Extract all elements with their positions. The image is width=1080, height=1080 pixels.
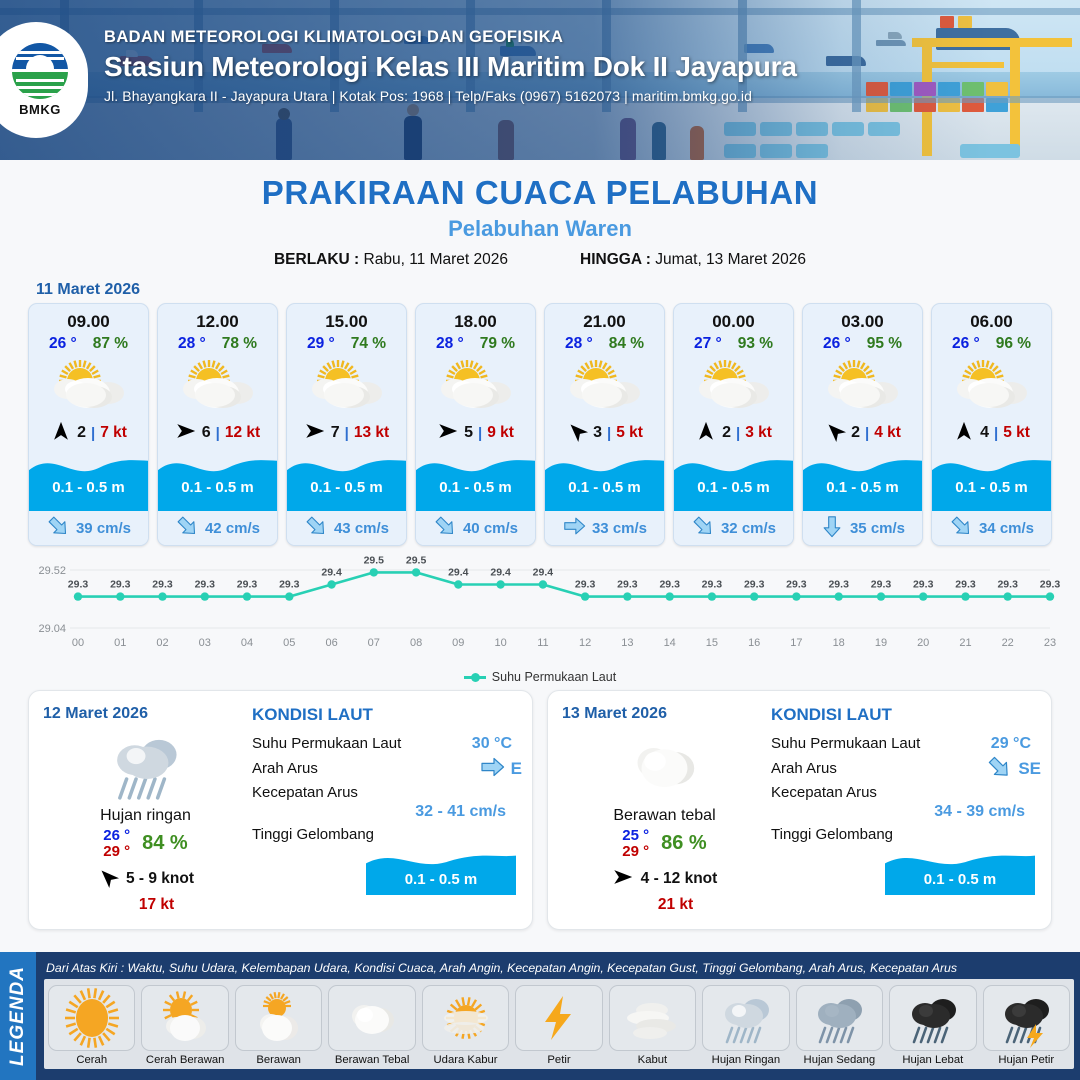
sst-label: Suhu Permukaan Laut: [252, 735, 472, 752]
svg-text:20: 20: [917, 637, 929, 649]
svg-text:29.3: 29.3: [913, 579, 934, 591]
hourly-forecast-cards: 09.00 26 ° 87 % 2 | 7 kt 0.1 - 0.5 m 39: [0, 303, 1080, 546]
current-speed: 35 cm/s: [850, 520, 905, 537]
wind-gust: 4 kt: [874, 424, 901, 442]
wave-badge: 0.1 - 0.5 m: [885, 847, 1035, 895]
card-time: 06.00: [932, 304, 1051, 334]
card-wind: 5 | 9 kt: [416, 417, 535, 449]
current-direction-arrow-icon: [175, 514, 199, 543]
wind-gust: 5 kt: [1003, 424, 1030, 442]
legend-icon-cerah-berawan: [141, 985, 228, 1051]
svg-text:29.3: 29.3: [110, 579, 131, 591]
current-direction-arrow-icon: [691, 514, 715, 543]
legend-item-label: Cerah Berawan: [146, 1054, 225, 1066]
svg-text:29.3: 29.3: [1040, 579, 1061, 591]
legend-item-label: Berawan Tebal: [335, 1054, 410, 1066]
legend-item: Hujan Ringan: [702, 985, 789, 1066]
svg-text:29.3: 29.3: [828, 579, 849, 591]
svg-text:16: 16: [748, 637, 760, 649]
panel-temps: 25 ° 29 °: [622, 828, 649, 860]
separator: |: [345, 425, 349, 442]
card-current: 40 cm/s: [416, 511, 535, 545]
weather-icon-partly-cloudy: [158, 355, 277, 417]
legend-bar: LEGENDA Dari Atas Kiri : Waktu, Suhu Uda…: [0, 952, 1080, 1080]
svg-text:29.52: 29.52: [38, 565, 66, 577]
sea-condition-title: KONDISI LAUT: [252, 705, 522, 725]
card-temp-humidity: 26 ° 96 %: [932, 334, 1051, 355]
wind-speed: 3: [593, 424, 602, 442]
legend-item-label: Petir: [547, 1054, 570, 1066]
svg-text:29.3: 29.3: [871, 579, 892, 591]
separator: |: [216, 425, 220, 442]
panel-date: 13 Maret 2026: [562, 705, 767, 723]
panel-temp-max: 29 °: [622, 844, 649, 860]
separator: |: [865, 425, 869, 442]
card-current: 33 cm/s: [545, 511, 664, 545]
wind-direction-arrow-icon: [695, 420, 717, 447]
svg-text:10: 10: [494, 637, 506, 649]
card-time: 00.00: [674, 304, 793, 334]
current-direction-value-cell: E: [479, 754, 522, 784]
svg-text:08: 08: [410, 637, 422, 649]
svg-text:21: 21: [959, 637, 971, 649]
card-temperature: 29 °: [307, 335, 335, 353]
header-titles: BADAN METEOROLOGI KLIMATOLOGI DAN GEOFIS…: [104, 28, 797, 104]
card-temp-humidity: 28 ° 78 %: [158, 334, 277, 355]
wind-gust: 7 kt: [100, 424, 127, 442]
svg-text:06: 06: [325, 637, 337, 649]
wind-direction-arrow-icon: [175, 420, 197, 447]
chart-legend: Suhu Permukaan Laut: [0, 670, 1080, 684]
forecast-card: 06.00 26 ° 96 % 4 | 5 kt 0.1 - 0.5 m 34: [931, 303, 1052, 546]
legend-item: Berawan Tebal: [328, 985, 415, 1066]
svg-text:29.3: 29.3: [786, 579, 807, 591]
panel-wind: 5 - 9 knot: [43, 866, 248, 893]
card-current: 34 cm/s: [932, 511, 1051, 545]
card-current: 35 cm/s: [803, 511, 922, 545]
svg-text:29.3: 29.3: [659, 579, 680, 591]
wind-speed: 2: [851, 424, 860, 442]
daily-forecast-panel: 12 Maret 2026 Hujan ringan 26 ° 29 ° 84 …: [28, 690, 533, 930]
svg-text:29.4: 29.4: [448, 567, 469, 579]
legend-items: Cerah Cerah Berawan Berawan Berawan Teba…: [44, 979, 1074, 1069]
panel-temp-max: 29 °: [103, 844, 130, 860]
bmkg-logo-mark: [12, 43, 68, 99]
card-current: 39 cm/s: [29, 511, 148, 545]
svg-text:29.3: 29.3: [575, 579, 596, 591]
panel-temps: 26 ° 29 °: [103, 828, 130, 860]
legend-icon-hujan-ringan: [702, 985, 789, 1051]
card-time: 18.00: [416, 304, 535, 334]
forecast-date-label: 11 Maret 2026: [36, 281, 1080, 299]
card-time: 03.00: [803, 304, 922, 334]
svg-text:29.3: 29.3: [68, 579, 89, 591]
card-wind: 2 | 3 kt: [674, 417, 793, 449]
svg-text:29.3: 29.3: [955, 579, 976, 591]
separator: |: [736, 425, 740, 442]
wind-speed: 5: [464, 424, 473, 442]
legend-item: Hujan Petir: [983, 985, 1070, 1066]
daily-forecast-panel: 13 Maret 2026 Berawan tebal 25 ° 29 ° 86…: [547, 690, 1052, 930]
daily-forecast-panels: 12 Maret 2026 Hujan ringan 26 ° 29 ° 84 …: [0, 684, 1080, 930]
svg-text:07: 07: [368, 637, 380, 649]
card-wave: 0.1 - 0.5 m: [674, 449, 793, 511]
forecast-card: 03.00 26 ° 95 % 2 | 4 kt 0.1 - 0.5 m 35: [802, 303, 923, 546]
svg-text:15: 15: [706, 637, 718, 649]
panel-gust: 21 kt: [562, 896, 767, 914]
panel-humidity: 86 %: [661, 832, 707, 855]
card-wind: 2 | 4 kt: [803, 417, 922, 449]
legend-item: Berawan: [235, 985, 322, 1066]
legend-icon-hujan-lebat: [889, 985, 976, 1051]
current-speed: 34 cm/s: [979, 520, 1034, 537]
current-direction-value-cell: SE: [986, 754, 1041, 784]
sea-condition-title: KONDISI LAUT: [771, 705, 1041, 725]
card-wave: 0.1 - 0.5 m: [287, 449, 406, 511]
wave-row: Tinggi Gelombang: [771, 821, 1041, 847]
wind-gust: 5 kt: [616, 424, 643, 442]
current-direction-arrow-icon: [949, 514, 973, 543]
card-wind: 2 | 7 kt: [29, 417, 148, 449]
current-speed-value: 34 - 39 cm/s: [771, 803, 1041, 821]
svg-text:29.04: 29.04: [38, 623, 66, 635]
current-direction-arrow-icon: [433, 514, 457, 543]
current-direction-label: Arah Arus: [252, 760, 479, 777]
panel-humidity: 84 %: [142, 832, 188, 855]
card-wind: 4 | 5 kt: [932, 417, 1051, 449]
wave-label: Tinggi Gelombang: [252, 826, 522, 843]
weather-icon-partly-cloudy: [287, 355, 406, 417]
current-direction-arrow-icon: [304, 514, 328, 543]
wave-badge: 0.1 - 0.5 m: [366, 847, 516, 895]
svg-text:29.5: 29.5: [406, 556, 427, 566]
card-temperature: 27 °: [694, 335, 722, 353]
svg-text:14: 14: [664, 637, 676, 649]
svg-text:29.4: 29.4: [533, 567, 554, 579]
valid-from-value: Rabu, 11 Maret 2026: [364, 251, 508, 268]
weather-icon-partly-cloudy: [545, 355, 664, 417]
current-direction-row: Arah Arus E: [252, 756, 522, 781]
card-time: 15.00: [287, 304, 406, 334]
panel-condition: Berawan tebal: [562, 807, 767, 825]
legend-item-label: Kabut: [638, 1054, 668, 1066]
weather-icon-partly-cloudy: [674, 355, 793, 417]
page-header: BMKG BADAN METEOROLOGI KLIMATOLOGI DAN G…: [0, 0, 1080, 160]
current-speed-label: Kecepatan Arus: [252, 784, 522, 801]
svg-text:13: 13: [621, 637, 633, 649]
card-time: 09.00: [29, 304, 148, 334]
current-speed: 43 cm/s: [334, 520, 389, 537]
current-direction-arrow-icon: [986, 754, 1012, 784]
wind-speed: 2: [722, 424, 731, 442]
svg-text:29.4: 29.4: [321, 567, 342, 579]
svg-text:29.3: 29.3: [237, 579, 258, 591]
svg-text:11: 11: [537, 637, 548, 649]
card-current: 32 cm/s: [674, 511, 793, 545]
wind-direction-arrow-icon: [97, 866, 119, 893]
card-humidity: 74 %: [351, 335, 386, 353]
valid-to: HINGGA : Jumat, 13 Maret 2026: [580, 251, 806, 269]
page-title: PRAKIRAAN CUACA PELABUHAN: [0, 174, 1080, 212]
card-temperature: 26 °: [49, 335, 77, 353]
sst-chart: 29.5229.0429.30029.30129.30229.30329.304…: [18, 556, 1062, 668]
forecast-card: 00.00 27 ° 93 % 2 | 3 kt 0.1 - 0.5 m 32: [673, 303, 794, 546]
separator: |: [994, 425, 998, 442]
current-speed: 39 cm/s: [76, 520, 131, 537]
legend-item: Hujan Lebat: [889, 985, 976, 1066]
card-time: 12.00: [158, 304, 277, 334]
wave-height: 0.1 - 0.5 m: [416, 479, 535, 496]
separator: |: [478, 425, 482, 442]
weather-icon-partly-cloudy: [29, 355, 148, 417]
valid-from: BERLAKU : Rabu, 11 Maret 2026: [274, 251, 508, 269]
weather-icon-hujan-ringan: [43, 725, 248, 805]
legend-item-label: Udara Kabur: [434, 1054, 498, 1066]
svg-text:29.3: 29.3: [997, 579, 1018, 591]
legend-side-text: LEGENDA: [7, 966, 29, 1066]
svg-text:29.3: 29.3: [195, 579, 216, 591]
svg-text:02: 02: [156, 637, 168, 649]
card-humidity: 84 %: [609, 335, 644, 353]
legend-icon-hujan-sedang: [796, 985, 883, 1051]
svg-text:29.3: 29.3: [617, 579, 638, 591]
svg-text:04: 04: [241, 637, 253, 649]
panel-temp-min: 25 °: [622, 828, 649, 844]
panel-temp-humidity: 25 ° 29 ° 86 %: [562, 828, 767, 860]
svg-text:29.4: 29.4: [490, 567, 511, 579]
current-direction-arrow-icon: [820, 514, 844, 543]
weather-icon-partly-cloudy: [416, 355, 535, 417]
card-temperature: 26 °: [952, 335, 980, 353]
svg-text:19: 19: [875, 637, 887, 649]
legend-item: Hujan Sedang: [796, 985, 883, 1066]
card-humidity: 87 %: [93, 335, 128, 353]
wind-speed: 6: [202, 424, 211, 442]
card-wind: 7 | 13 kt: [287, 417, 406, 449]
valid-to-value: Jumat, 13 Maret 2026: [655, 251, 806, 268]
card-temp-humidity: 26 ° 87 %: [29, 334, 148, 355]
svg-text:22: 22: [1002, 637, 1014, 649]
current-speed-value: 32 - 41 cm/s: [252, 803, 522, 821]
legend-note: Dari Atas Kiri : Waktu, Suhu Udara, Kele…: [44, 956, 1074, 979]
card-temp-humidity: 26 ° 95 %: [803, 334, 922, 355]
wave-row: Tinggi Gelombang: [252, 821, 522, 847]
card-humidity: 79 %: [480, 335, 515, 353]
wind-gust: 9 kt: [487, 424, 514, 442]
bmkg-logo-text: BMKG: [19, 102, 61, 117]
legend-icon-hujan-petir: [983, 985, 1070, 1051]
current-direction-arrow-icon: [46, 514, 70, 543]
station-name: Stasiun Meteorologi Kelas III Maritim Do…: [104, 51, 797, 83]
current-direction-arrow-icon: [562, 514, 586, 543]
svg-text:12: 12: [579, 637, 591, 649]
wave-height: 0.1 - 0.5 m: [803, 479, 922, 496]
wind-direction-arrow-icon: [612, 866, 634, 893]
svg-text:00: 00: [72, 637, 84, 649]
valid-from-label: BERLAKU :: [274, 251, 359, 268]
panel-temp-min: 26 °: [103, 828, 130, 844]
forecast-card: 09.00 26 ° 87 % 2 | 7 kt 0.1 - 0.5 m 39: [28, 303, 149, 546]
wave-value: 0.1 - 0.5 m: [885, 871, 1035, 888]
svg-text:29.3: 29.3: [152, 579, 173, 591]
wind-speed: 7: [331, 424, 340, 442]
page-title-block: PRAKIRAAN CUACA PELABUHAN Pelabuhan Ware…: [0, 160, 1080, 269]
svg-text:01: 01: [114, 637, 126, 649]
card-humidity: 93 %: [738, 335, 773, 353]
card-wind: 3 | 5 kt: [545, 417, 664, 449]
separator: |: [607, 425, 611, 442]
card-temp-humidity: 28 ° 79 %: [416, 334, 535, 355]
card-temperature: 28 °: [178, 335, 206, 353]
card-temperature: 26 °: [823, 335, 851, 353]
panel-right: KONDISI LAUT Suhu Permukaan Laut 30 °C A…: [248, 705, 522, 919]
wind-direction-arrow-icon: [50, 420, 72, 447]
valid-to-label: HINGGA :: [580, 251, 651, 268]
svg-text:18: 18: [833, 637, 845, 649]
forecast-card: 21.00 28 ° 84 % 3 | 5 kt 0.1 - 0.5 m 33: [544, 303, 665, 546]
current-direction-label: Arah Arus: [771, 760, 986, 777]
sst-chart-svg: 29.5229.0429.30029.30129.30229.30329.304…: [18, 556, 1062, 656]
wave-label: Tinggi Gelombang: [771, 826, 1041, 843]
card-wave: 0.1 - 0.5 m: [803, 449, 922, 511]
current-direction-row: Arah Arus SE: [771, 756, 1041, 781]
wind-direction-arrow-icon: [953, 420, 975, 447]
card-wave: 0.1 - 0.5 m: [932, 449, 1051, 511]
validity-row: BERLAKU : Rabu, 11 Maret 2026 HINGGA : J…: [0, 251, 1080, 269]
legend-item-label: Hujan Ringan: [712, 1054, 780, 1066]
wind-direction-arrow-icon: [437, 420, 459, 447]
separator: |: [91, 425, 95, 442]
sst-value: 30 °C: [472, 735, 522, 753]
forecast-card: 18.00 28 ° 79 % 5 | 9 kt 0.1 - 0.5 m 40: [415, 303, 536, 546]
wave-height: 0.1 - 0.5 m: [932, 479, 1051, 496]
panel-temp-humidity: 26 ° 29 ° 84 %: [43, 828, 248, 860]
station-address: Jl. Bhayangkara II - Jayapura Utara | Ko…: [104, 88, 797, 104]
wave-height: 0.1 - 0.5 m: [674, 479, 793, 496]
panel-right: KONDISI LAUT Suhu Permukaan Laut 29 °C A…: [767, 705, 1041, 919]
legend-item-label: Berawan: [256, 1054, 301, 1066]
svg-text:05: 05: [283, 637, 295, 649]
card-temperature: 28 °: [565, 335, 593, 353]
panel-date: 12 Maret 2026: [43, 705, 248, 723]
wave-value: 0.1 - 0.5 m: [366, 871, 516, 888]
port-name: Pelabuhan Waren: [0, 216, 1080, 242]
card-temp-humidity: 29 ° 74 %: [287, 334, 406, 355]
chart-legend-label: Suhu Permukaan Laut: [492, 670, 616, 684]
legend-icon-berawan: [235, 985, 322, 1051]
svg-text:29.3: 29.3: [279, 579, 300, 591]
svg-text:09: 09: [452, 637, 464, 649]
legend-side-label: LEGENDA: [0, 952, 36, 1080]
legend-icon-petir: [515, 985, 602, 1051]
legend-icon-kabut: [609, 985, 696, 1051]
legend-item-label: Cerah: [76, 1054, 107, 1066]
card-wave: 0.1 - 0.5 m: [29, 449, 148, 511]
current-speed: 32 cm/s: [721, 520, 776, 537]
wind-speed: 2: [77, 424, 86, 442]
card-temperature: 28 °: [436, 335, 464, 353]
card-time: 21.00: [545, 304, 664, 334]
legend-item: Cerah: [48, 985, 135, 1066]
current-speed-row: Kecepatan Arus: [771, 781, 1041, 803]
wind-direction-arrow-icon: [304, 420, 326, 447]
svg-text:29.3: 29.3: [744, 579, 765, 591]
forecast-card: 15.00 29 ° 74 % 7 | 13 kt 0.1 - 0.5 m 4: [286, 303, 407, 546]
wind-gust: 12 kt: [225, 424, 260, 442]
wind-direction-arrow-icon: [824, 420, 846, 447]
bmkg-logo: BMKG: [0, 22, 88, 138]
card-humidity: 96 %: [996, 335, 1031, 353]
legend-icon-cerah: [48, 985, 135, 1051]
legend-icon-berawan-tebal: [328, 985, 415, 1051]
panel-wind-range: 5 - 9 knot: [126, 870, 194, 888]
panel-left: 13 Maret 2026 Berawan tebal 25 ° 29 ° 86…: [562, 705, 767, 919]
svg-text:29.3: 29.3: [702, 579, 723, 591]
legend-item-label: Hujan Lebat: [902, 1054, 963, 1066]
panel-gust: 17 kt: [43, 896, 248, 914]
card-humidity: 95 %: [867, 335, 902, 353]
panel-wind: 4 - 12 knot: [562, 866, 767, 893]
card-current: 42 cm/s: [158, 511, 277, 545]
wave-height: 0.1 - 0.5 m: [287, 479, 406, 496]
legend-item: Cerah Berawan: [141, 985, 228, 1066]
legend-item: Udara Kabur: [422, 985, 509, 1066]
panel-wind-range: 4 - 12 knot: [641, 870, 718, 888]
weather-icon-partly-cloudy: [803, 355, 922, 417]
legend-item: Petir: [515, 985, 602, 1066]
card-humidity: 78 %: [222, 335, 257, 353]
current-direction-value: SE: [1018, 759, 1041, 779]
legend-item-label: Hujan Petir: [998, 1054, 1054, 1066]
card-wave: 0.1 - 0.5 m: [416, 449, 535, 511]
weather-icon-berawan-tebal: [562, 725, 767, 805]
current-speed: 33 cm/s: [592, 520, 647, 537]
wind-speed: 4: [980, 424, 989, 442]
wave-height: 0.1 - 0.5 m: [158, 479, 277, 496]
card-wind: 6 | 12 kt: [158, 417, 277, 449]
legend-item-label: Hujan Sedang: [804, 1054, 876, 1066]
svg-text:23: 23: [1044, 637, 1056, 649]
weather-icon-partly-cloudy: [932, 355, 1051, 417]
panel-left: 12 Maret 2026 Hujan ringan 26 ° 29 ° 84 …: [43, 705, 248, 919]
wave-height: 0.1 - 0.5 m: [29, 479, 148, 496]
legend-item: Kabut: [609, 985, 696, 1066]
sst-row: Suhu Permukaan Laut 30 °C: [252, 731, 522, 756]
current-speed-row: Kecepatan Arus: [252, 781, 522, 803]
svg-text:03: 03: [199, 637, 211, 649]
legend-icon-udara-kabur: [422, 985, 509, 1051]
wind-gust: 13 kt: [354, 424, 389, 442]
card-temp-humidity: 28 ° 84 %: [545, 334, 664, 355]
current-speed-label: Kecepatan Arus: [771, 784, 1041, 801]
svg-text:29.5: 29.5: [364, 556, 385, 566]
wind-gust: 3 kt: [745, 424, 772, 442]
svg-text:17: 17: [790, 637, 802, 649]
current-speed: 42 cm/s: [205, 520, 260, 537]
current-speed: 40 cm/s: [463, 520, 518, 537]
card-wave: 0.1 - 0.5 m: [158, 449, 277, 511]
agency-name: BADAN METEOROLOGI KLIMATOLOGI DAN GEOFIS…: [104, 28, 797, 47]
wind-direction-arrow-icon: [566, 420, 588, 447]
panel-condition: Hujan ringan: [43, 807, 248, 825]
wave-height: 0.1 - 0.5 m: [545, 479, 664, 496]
legend-body: Dari Atas Kiri : Waktu, Suhu Udara, Kele…: [36, 952, 1080, 1080]
forecast-card: 12.00 28 ° 78 % 6 | 12 kt 0.1 - 0.5 m 4: [157, 303, 278, 546]
chart-legend-marker-icon: [464, 676, 486, 679]
current-direction-value: E: [511, 759, 522, 779]
card-current: 43 cm/s: [287, 511, 406, 545]
current-direction-arrow-icon: [479, 754, 505, 784]
